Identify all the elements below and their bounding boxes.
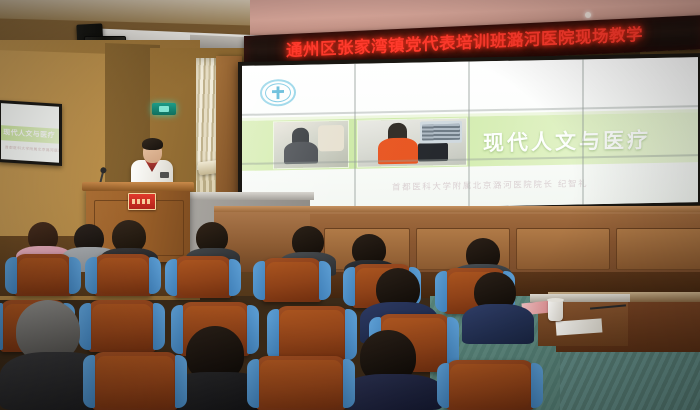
slide-photo-1 (274, 121, 348, 168)
podium-top (82, 182, 194, 191)
lecture-hall-photo: 现代人文与医疗 首都医科大学附属北京潞河医院院长 纪智礼 通州区张家湾镇党代表培… (0, 0, 700, 410)
seat (174, 256, 232, 298)
slide-photo-2 (358, 119, 466, 167)
audience-shoulders (462, 304, 534, 344)
seat (262, 258, 322, 302)
wall-panel (616, 228, 700, 270)
seat (88, 300, 156, 352)
slide-title: 现代人文与医疗 (452, 115, 682, 165)
seat (94, 254, 152, 296)
emergency-exit-sign (152, 103, 176, 115)
left-wall-monitor: 现代人文与医疗 首都医科大学附属北京潞河医院院长 纪智礼 (0, 100, 62, 166)
left-wall-monitor-screen: 现代人文与医疗 首都医科大学附属北京潞河医院院长 纪智礼 (1, 103, 59, 163)
wall-panel (516, 228, 610, 270)
seat (92, 352, 178, 410)
video-wall: 现代人文与医疗 首都医科大学附属北京潞河医院院长 纪智礼 (238, 53, 700, 214)
speaker-hair (142, 138, 163, 150)
seat (446, 360, 534, 410)
stage-table-top (186, 192, 314, 200)
audience-shoulders-front (344, 374, 442, 410)
video-wall-screen: 现代人文与医疗 首都医科大学附属北京潞河医院院长 纪智礼 (242, 57, 698, 211)
hospital-logo-icon (260, 79, 296, 107)
seat (14, 254, 72, 296)
paper-cup (548, 300, 563, 321)
speaker-badge (160, 172, 169, 178)
seat (276, 306, 348, 362)
ceiling-sprinkler (585, 12, 591, 18)
seat (256, 356, 346, 410)
monitor-slide-subtitle: 首都医科大学附属北京潞河医院院长 纪智礼 (5, 145, 57, 153)
podium-nameplate (128, 193, 156, 210)
